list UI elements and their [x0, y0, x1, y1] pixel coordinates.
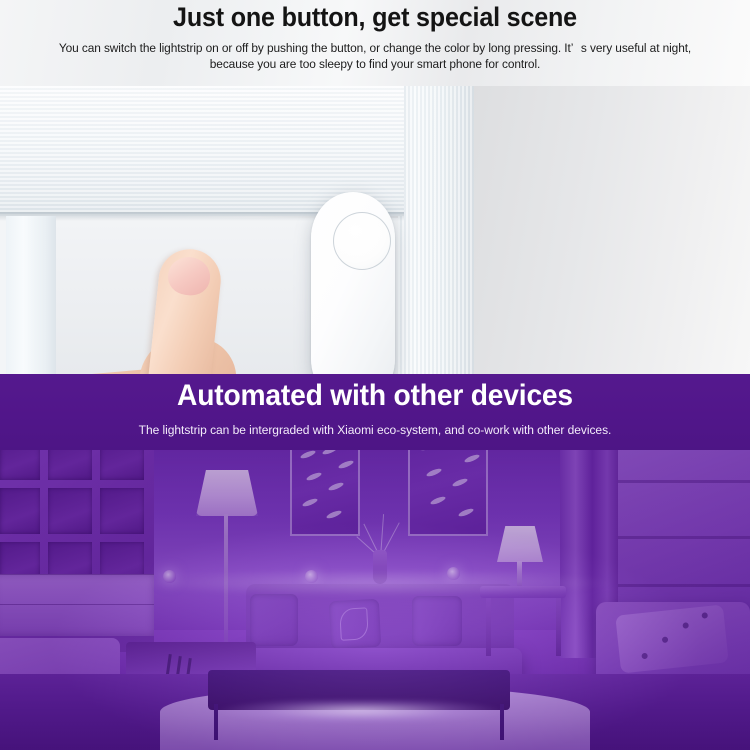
- art-motif: [300, 449, 317, 460]
- shelf-cube: [48, 488, 92, 534]
- side-table-leg: [486, 598, 491, 656]
- side-table-leg: [556, 598, 561, 656]
- sofa-cushion-leaf: [329, 599, 381, 650]
- subtitle-line1-part-b: s very: [581, 41, 612, 55]
- wall-trim-vertical: [398, 86, 474, 374]
- leaf-pattern: [339, 607, 369, 640]
- cushion-button: [682, 622, 689, 629]
- section-two-title: Automated with other devices: [23, 379, 728, 413]
- section-automation: Automated with other devices The lightst…: [0, 374, 750, 750]
- art-motif: [302, 497, 319, 508]
- wall-right: [470, 86, 750, 374]
- controller-photo: [0, 86, 750, 374]
- art-motif: [464, 453, 481, 464]
- shelf-cube: [100, 488, 144, 534]
- lightstrip-under-table-glow: [214, 700, 506, 722]
- sofa-cushion: [412, 596, 462, 646]
- shelf-cube: [0, 488, 40, 534]
- art-motif: [338, 459, 355, 470]
- drawer-seam: [0, 604, 154, 605]
- hand: [0, 254, 370, 374]
- subtitle-line1-part-a: You can switch the lightstrip on or off …: [59, 41, 573, 55]
- cushion-button: [662, 636, 669, 643]
- cushion-button: [701, 612, 708, 619]
- section-one-button: Just one button, get special scene You c…: [0, 0, 750, 374]
- shelf-board: [618, 536, 750, 539]
- art-motif: [326, 509, 343, 520]
- art-motif: [426, 467, 443, 478]
- art-motif: [306, 471, 323, 482]
- floor-lamp-shade: [196, 470, 258, 516]
- buttoned-cushion: [615, 605, 728, 674]
- art-motif: [430, 495, 447, 506]
- wall-art-left: [290, 436, 360, 536]
- product-feature-page: Just one button, get special scene You c…: [0, 0, 750, 750]
- shelf-board: [618, 480, 750, 483]
- art-motif: [452, 477, 469, 488]
- index-finger: [146, 246, 224, 374]
- art-motif: [458, 507, 475, 518]
- sofa-cushion: [250, 594, 298, 646]
- lightstrip-wall-glow: [0, 570, 750, 596]
- section-one-title: Just one button, get special scene: [26, 2, 724, 33]
- art-motif: [328, 481, 345, 492]
- right-shelving-unit: [618, 424, 750, 630]
- fingernail: [166, 255, 212, 297]
- section-one-subtitle: You can switch the lightstrip on or off …: [46, 40, 705, 72]
- section-two-subtitle: The lightstrip can be intergraded with X…: [50, 423, 700, 438]
- cushion-button: [641, 653, 648, 660]
